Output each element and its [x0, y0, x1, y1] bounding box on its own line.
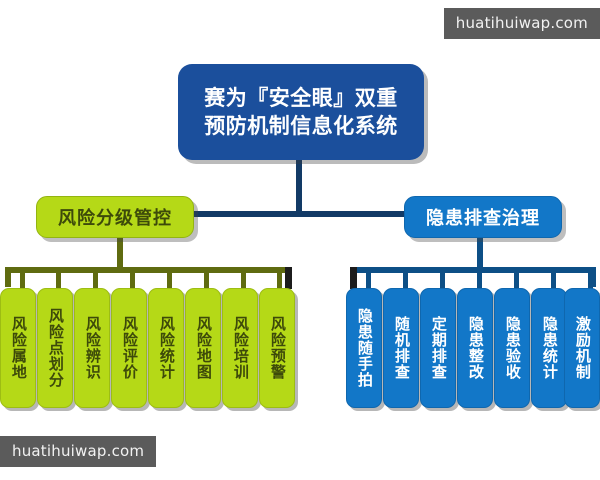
- leaf-node-risk[interactable]: 风险培训: [222, 288, 258, 408]
- leaf-node-risk[interactable]: 风险点划分: [37, 288, 73, 408]
- leaf-node-hazard[interactable]: 隐患整改: [457, 288, 493, 408]
- leaf-label: 风险属地: [9, 316, 27, 380]
- leaf-node-risk[interactable]: 风险属地: [0, 288, 36, 408]
- branch-label-hazard-management: 隐患排查治理: [426, 204, 540, 230]
- leaf-label: 定期排查: [429, 316, 447, 380]
- root-title-line-1: 赛为『安全眼』双重: [204, 84, 398, 112]
- leaf-label: 隐患随手拍: [355, 308, 373, 388]
- leaf-node-risk[interactable]: 风险辨识: [74, 288, 110, 408]
- leaf-node-risk[interactable]: 风险评价: [111, 288, 147, 408]
- watermark-top-right: huatihuiwap.com: [444, 8, 600, 39]
- leaf-label: 隐患验收: [503, 316, 521, 380]
- connector-risk-stem: [117, 236, 123, 270]
- connector-risk-bus: [6, 267, 291, 273]
- leaf-node-risk[interactable]: 风险预警: [259, 288, 295, 408]
- watermark-bottom-left: huatihuiwap.com: [0, 436, 156, 467]
- leaf-label: 风险统计: [157, 316, 175, 380]
- leaf-label: 隐患统计: [540, 316, 558, 380]
- leaf-node-hazard[interactable]: 定期排查: [420, 288, 456, 408]
- connector-hazard-stem: [477, 236, 483, 270]
- leaf-node-hazard[interactable]: 随机排查: [383, 288, 419, 408]
- leaf-node-risk[interactable]: 风险统计: [148, 288, 184, 408]
- branch-node-hazard-management[interactable]: 隐患排查治理: [404, 196, 562, 238]
- branch-node-risk-control[interactable]: 风险分级管控: [36, 196, 194, 238]
- root-title-line-2: 预防机制信息化系统: [204, 112, 398, 140]
- leaf-label: 风险评价: [120, 316, 138, 380]
- leaf-label: 风险预警: [268, 316, 286, 380]
- leaf-label: 风险点划分: [46, 308, 64, 388]
- leaf-label: 风险地图: [194, 316, 212, 380]
- connector-hazard-bus: [356, 267, 596, 273]
- leaf-label: 随机排查: [392, 316, 410, 380]
- diagram-canvas: 赛为『安全眼』双重 预防机制信息化系统 风险分级管控 隐患排查治理 风险属地 风…: [0, 0, 600, 480]
- leaf-node-risk[interactable]: 风险地图: [185, 288, 221, 408]
- leaf-label: 风险辨识: [83, 316, 101, 380]
- connector-risk-bus-left-cap: [5, 267, 11, 287]
- connector-root-vertical: [296, 160, 302, 212]
- leaf-node-hazard[interactable]: 激励机制: [564, 288, 600, 408]
- root-node-title[interactable]: 赛为『安全眼』双重 预防机制信息化系统: [178, 64, 424, 160]
- leaf-label: 隐患整改: [466, 316, 484, 380]
- leaf-label: 激励机制: [573, 316, 591, 380]
- branch-label-risk-control: 风险分级管控: [58, 204, 172, 230]
- connector-risk-bus-right-cap: [285, 267, 292, 289]
- leaf-node-hazard[interactable]: 隐患随手拍: [346, 288, 382, 408]
- connector-hazard-bus-left-cap: [350, 267, 357, 289]
- leaf-node-hazard[interactable]: 隐患统计: [531, 288, 567, 408]
- leaf-node-hazard[interactable]: 隐患验收: [494, 288, 530, 408]
- leaf-label: 风险培训: [231, 316, 249, 380]
